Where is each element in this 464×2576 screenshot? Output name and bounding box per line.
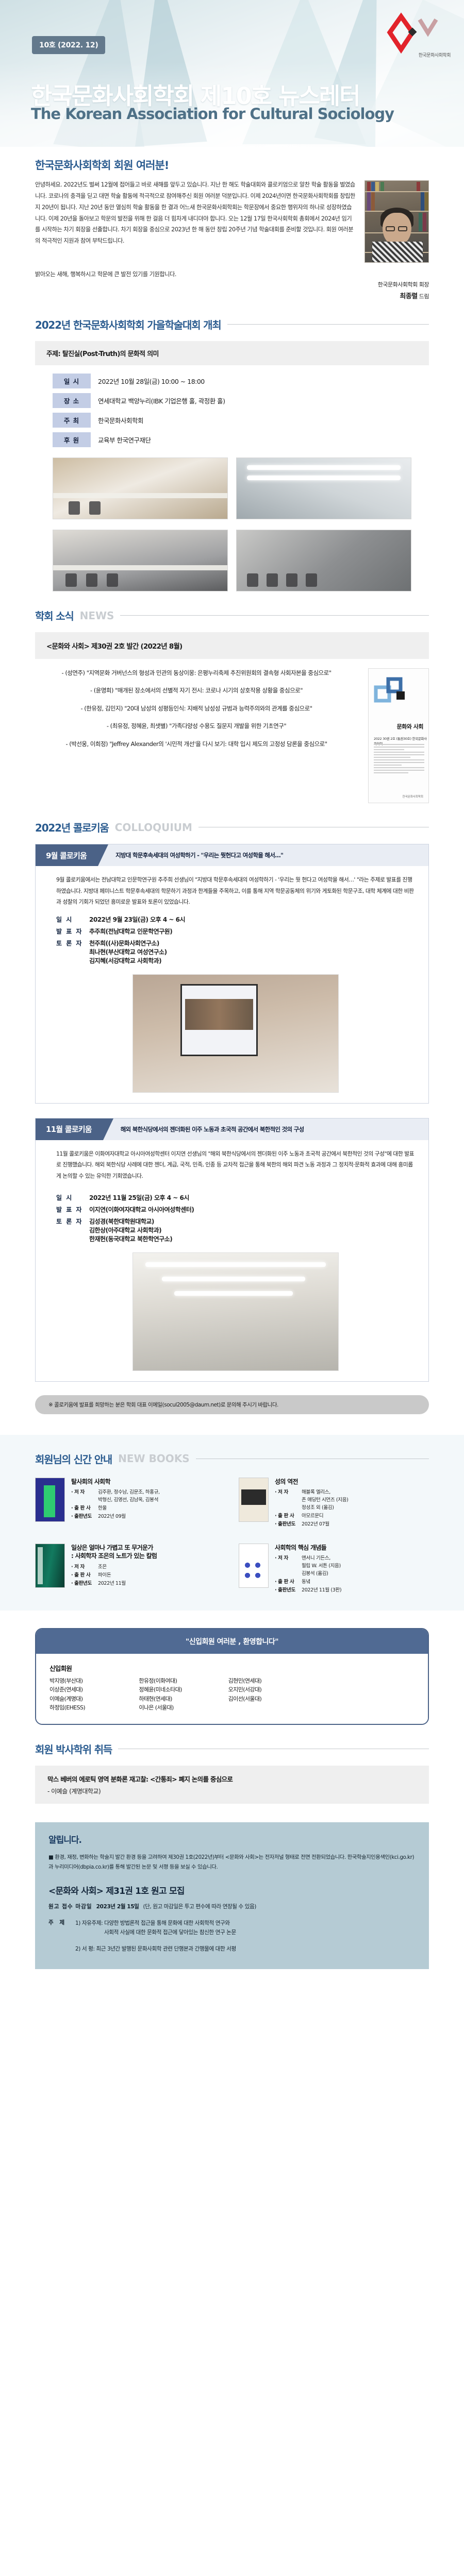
- book-publisher-label: · 출 판 사: [71, 1505, 98, 1513]
- book-publisher-row: · 출 판 사 파이돈: [71, 1572, 225, 1580]
- book-publisher-value: 한울: [98, 1505, 107, 1513]
- detail-value: 연세대학교 백양누리(IBK 기업은행 홀, 곽정환 홀): [98, 396, 225, 405]
- colloquium-photo: [132, 974, 339, 1093]
- news-heading: 학회 소식 NEWS: [35, 608, 429, 623]
- detail-value: 한국문화사회학회: [98, 415, 143, 425]
- list-item: 박지영(부산대): [49, 1677, 139, 1686]
- colloquium-presenter-key: 발 표 자: [56, 1205, 89, 1214]
- colloquium-heading-ko: 2022년 콜로키움: [35, 820, 109, 835]
- detail-row: 장 소 연세대학교 백양누리(IBK 기업은행 홀, 곽정환 홀): [53, 393, 429, 408]
- books-heading-ko: 회원님의 신간 안내: [35, 1451, 112, 1466]
- phd-entry: 막스 베버의 에로틱 영역 분화론 재고찰: <간통죄> 폐지 논의를 중심으로…: [35, 1766, 429, 1804]
- book-publisher-label: · 출 판 사: [71, 1572, 98, 1580]
- list-item: 김현민(연세대): [228, 1677, 318, 1686]
- list-item: 이나은 (서울대): [139, 1704, 228, 1713]
- colloquium-discussant-list: 김성경(북한대학원대학교) 김한상(아주대학교 사회학과) 한재헌(동국대학교 …: [89, 1217, 172, 1243]
- list-item: 오지민(서강대): [228, 1686, 318, 1694]
- book-publisher-row: · 출 판 사 동녘: [275, 1579, 429, 1586]
- list-item: - (윤명희) "매개된 장소에서의 선별적 자기 전시: 코로나 시기의 상호…: [35, 686, 358, 695]
- issue-badge: 10호 (2022. 12): [32, 36, 105, 54]
- news-heading-en: NEWS: [80, 609, 114, 622]
- author-line: 앤서니 기든스,: [302, 1555, 341, 1563]
- heading-rule: [227, 324, 429, 325]
- book-author-row: · 저 자 김주환, 정수남, 김문조, 하홍규, 박형신, 김영선, 김남옥,…: [71, 1489, 225, 1504]
- signature-name: 최종렬 드림: [35, 291, 429, 300]
- detail-row: 일 시 2022년 10월 28일(금) 10:00 ~ 18:00: [53, 374, 429, 388]
- colloquium-heading-en: COLLOQUIUM: [115, 821, 192, 834]
- book-cover: [35, 1544, 65, 1588]
- list-item: 김이선(서울대): [228, 1695, 318, 1704]
- book-year-row: · 출판년도 2022년 07월: [275, 1521, 429, 1529]
- book-year-value: 2022년 07월: [302, 1521, 329, 1529]
- association-logo-icon: [374, 9, 452, 56]
- book-list: 탈사회의 사회학 · 저 자 김주환, 정수남, 김문조, 하홍규, 박형신, …: [35, 1476, 429, 1595]
- phd-author: - 이예슬 (계명대학교): [47, 1787, 417, 1795]
- discussant: 김한상(아주대학교 사회학과): [89, 1226, 172, 1234]
- book-title-main: 일상은 얼마나 가볍고 또 무거운가: [71, 1544, 153, 1551]
- colloquium-discussant-key: 토 론 자: [56, 939, 89, 965]
- book-year-label: · 출판년도: [275, 1521, 302, 1529]
- cfp-topic-key: 주 제: [48, 1919, 75, 1937]
- news-heading-ko: 학회 소식: [35, 608, 74, 623]
- book-author-value: 해블록 엘리스, 존 애딩턴 시먼즈 (지음) 정성조 외 (옮김): [302, 1489, 348, 1512]
- book-author-row: · 저 자 조은: [71, 1564, 225, 1571]
- conference-heading: 2022년 한국문화사회학회 가을학술대회 개최: [35, 317, 429, 332]
- colloquium-discussant-row: 토 론 자 김성경(북한대학원대학교) 김한상(아주대학교 사회학과) 한재헌(…: [56, 1217, 415, 1243]
- colloquium-topic: 해외 북한식당에서의 젠더화된 이주 노동과 초국적 공간에서 북한적인 것의 …: [103, 1118, 428, 1140]
- conference-details: 일 시 2022년 10월 28일(금) 10:00 ~ 18:00 장 소 연…: [53, 374, 429, 447]
- discussant: 김지혜(서강대학교 사회학과): [89, 956, 167, 965]
- heading-rule: [118, 1749, 429, 1749]
- colloquium-discussant-row: 토 론 자 천주희((사)문화사회연구소) 최나현(부산대학교 여성연구소) 김…: [56, 939, 415, 965]
- announcement-paragraph: ■ 환경, 재정, 변화하는 학술지 발간 환경 등을 고려하여 제30권 1호…: [48, 1853, 416, 1873]
- colloquium-presenter-value: 이지연(이화여자대학교 아시아여성학센터): [89, 1205, 194, 1214]
- conference-photo: [53, 457, 228, 519]
- conference-photo: [53, 530, 228, 591]
- heading-rule: [196, 1459, 429, 1459]
- phd-section: 회원 박사학위 취득 막스 베버의 에로틱 영역 분화론 재고찰: <간통죄> …: [0, 1741, 464, 1804]
- page-subtitle: The Korean Association for Cultural Soci…: [31, 105, 394, 123]
- book-cover: [239, 1478, 269, 1522]
- journal-mark-icon: [374, 676, 411, 713]
- colloquium-section: 2022년 콜로키움 COLLOQUIUM 9월 콜로키움 지방대 학문후속세대…: [0, 820, 464, 1414]
- book-year-row: · 출판년도 2022년 09월: [71, 1513, 225, 1521]
- colloquium-topic: 지방대 학문후속세대의 여성학하기 - "우리는 뭣헌다고 여성학을 해서…": [98, 844, 428, 866]
- book-author-label: · 저 자: [275, 1555, 302, 1578]
- discussant: 최나현(부산대학교 여성연구소): [89, 947, 167, 956]
- new-members-grid: 박지영(부산대) 한유정(이화여대) 김현민(연세대) 이상준(연세대) 정혜윤…: [49, 1677, 318, 1713]
- author-line: 필립 W. 서튼 (지음): [302, 1563, 341, 1570]
- conference-heading-ko: 2022년 한국문화사회학회 가을학술대회 개최: [35, 317, 221, 332]
- journal-cover-title: 문화와 사회: [397, 722, 423, 731]
- journal-issue-band: <문화와 사회> 제30권 2호 발간 (2022년 8월): [35, 632, 429, 659]
- cfp-topic-value: 1) 자유주제: 다양한 방법론적 접근을 통해 문화에 대한 사회학적 연구와…: [75, 1919, 416, 1937]
- phd-heading: 회원 박사학위 취득: [35, 1741, 429, 1756]
- colloquium-presenter-row: 발 표 자 이지연(이화여자대학교 아시아여성학센터): [56, 1205, 415, 1214]
- conference-photos-row-1: [53, 457, 411, 519]
- book-year-value: 2022년 09월: [98, 1513, 126, 1521]
- colloquium-date-row: 일 시 2022년 9월 23일(금) 오후 4 ~ 6시: [56, 915, 415, 924]
- journal-article-list: - (성연주) "지역문화 거버넌스의 형성과 민관의 동상이몽: 은평누리축제…: [35, 668, 358, 803]
- list-item: - (성연주) "지역문화 거버넌스의 형성과 민관의 동상이몽: 은평누리축제…: [35, 668, 358, 677]
- list-item: 하태현(연세대): [139, 1695, 228, 1704]
- author-line: 김봉석 (옮김): [302, 1570, 341, 1578]
- greeting-section: 한국문화사회학회 회원 여러분! 안녕하세요. 2022년도 벌써 12월에 접…: [0, 157, 464, 300]
- cfp-topic-spacer: [48, 1944, 75, 1954]
- book-cover: [35, 1478, 65, 1522]
- list-item: 이상준(연세대): [49, 1686, 139, 1694]
- book-author-row: · 저 자 앤서니 기든스, 필립 W. 서튼 (지음) 김봉석 (옮김): [275, 1555, 429, 1578]
- author-line: 박형신, 김영선, 김남옥, 김봉석: [98, 1497, 160, 1504]
- list-item: - (박선웅, 이희정) "Jeffrey Alexander의 '시민적 개선…: [35, 739, 358, 749]
- signature-role: 한국문화사회학회 회장: [35, 280, 429, 289]
- detail-value: 교육부 한국연구재단: [98, 435, 151, 445]
- book-author-value: 김주환, 정수남, 김문조, 하홍규, 박형신, 김영선, 김남옥, 김봉석: [98, 1489, 160, 1504]
- book-title: 사회학의 핵심 개념들: [275, 1544, 429, 1552]
- book-year-row: · 출판년도 2022년 11월 (3판): [275, 1587, 429, 1595]
- book-subtitle: : 사회학자 조은의 노트가 있는 칼럼: [71, 1552, 225, 1561]
- detail-key: 장 소: [53, 393, 91, 408]
- colloquium-presenter-key: 발 표 자: [56, 927, 89, 936]
- discussant: 김성경(북한대학원대학교): [89, 1217, 172, 1226]
- detail-row: 후 원 교육부 한국연구재단: [53, 432, 429, 447]
- book-year-row: · 출판년도 2022년 11월: [71, 1580, 225, 1588]
- cfp-topic-1: 1) 자유주제: 다양한 방법론적 접근을 통해 문화에 대한 사회학적 연구와: [75, 1920, 230, 1926]
- book-year-label: · 출판년도: [71, 1513, 98, 1521]
- detail-key: 일 시: [53, 374, 91, 388]
- detail-key: 주 최: [53, 413, 91, 428]
- colloquium-card-september: 9월 콜로키움 지방대 학문후속세대의 여성학하기 - "우리는 뭣헌다고 여성…: [35, 844, 429, 1104]
- detail-row: 주 최 한국문화사회학회: [53, 413, 429, 428]
- list-item: 정혜윤(미네소타대): [139, 1686, 228, 1694]
- cfp-deadline-value: 2023년 2월 15일: [96, 1903, 139, 1910]
- book-author-label: · 저 자: [275, 1489, 302, 1512]
- new-members-card: "신입회원 여러분 , 환영합니다" 신입회원 박지영(부산대) 한유정(이화여…: [35, 1628, 429, 1725]
- book-year-label: · 출판년도: [71, 1580, 98, 1588]
- colloquium-date-key: 일 시: [56, 915, 89, 924]
- book-author-value: 앤서니 기든스, 필립 W. 서튼 (지음) 김봉석 (옮김): [302, 1555, 341, 1578]
- colloquium-month-tag: 9월 콜로키움: [36, 844, 98, 866]
- journal-cover-footer: 한국문화사회학회: [403, 794, 423, 799]
- phd-heading-ko: 회원 박사학위 취득: [35, 1741, 112, 1756]
- conference-subject: 주제: 탈진실(Post-Truth)의 문화적 의미: [35, 341, 429, 365]
- cfp-deadline-row: 원고 접수 마감일 2023년 2월 15일 (단, 원고 마감일은 투고 편수…: [48, 1903, 416, 1910]
- list-item: 한유정(이화여대): [139, 1677, 228, 1686]
- list-item: - (한유정, 김민지) "20대 남성의 성평등인식: 지배적 남성성 규범과…: [35, 704, 358, 713]
- colloquium-month-tag: 11월 콜로키움: [36, 1118, 103, 1140]
- book-title: 일상은 얼마나 가볍고 또 무거운가 : 사회학자 조은의 노트가 있는 칼럼: [71, 1544, 225, 1561]
- book-publisher-row: · 출 판 사 한울: [71, 1505, 225, 1513]
- cfp-title: <문화와 사회> 제31권 1호 원고 모집: [48, 1884, 416, 1896]
- new-books-section: 회원님의 신간 안내 NEW BOOKS 탈사회의 사회학 · 저 자 김주환,…: [0, 1435, 464, 1611]
- book-item: 탈사회의 사회학 · 저 자 김주환, 정수남, 김문조, 하홍규, 박형신, …: [35, 1478, 225, 1529]
- conference-photos-row-2: [53, 530, 411, 591]
- list-item: 하정임(EHESS): [49, 1704, 139, 1713]
- detail-key: 후 원: [53, 432, 91, 447]
- president-photo: [364, 180, 429, 263]
- colloquium-heading: 2022년 콜로키움 COLLOQUIUM: [35, 820, 429, 835]
- book-publisher-label: · 출 판 사: [275, 1579, 302, 1586]
- phd-thesis-title: 막스 베버의 에로틱 영역 분화론 재고찰: <간통죄> 폐지 논의를 중심으로: [47, 1774, 417, 1784]
- conference-photo: [236, 530, 411, 591]
- journal-cover-image: 문화와 사회 2022 30권 2호 (통권30호) 한국문화사회학회 한국문화…: [368, 668, 429, 803]
- list-item: - (최유정, 정혜윤, 최샛별) "가족다양성 수용도 질문지 개발을 위한 …: [35, 721, 358, 731]
- book-item: 사회학의 핵심 개념들 · 저 자 앤서니 기든스, 필립 W. 서튼 (지음)…: [239, 1544, 429, 1595]
- discussant: 천주희((사)문화사회연구소): [89, 939, 167, 947]
- book-publisher-value: 동녘: [302, 1579, 310, 1586]
- colloquium-description: 11월 콜로키움은 이화여자대학교 아시아여성학센터 이지연 선생님의 "해외 …: [56, 1148, 415, 1182]
- heading-rule: [120, 615, 429, 616]
- book-author-row: · 저 자 해블록 엘리스, 존 애딩턴 시먼즈 (지음) 정성조 외 (옮김): [275, 1489, 429, 1512]
- list-item: [228, 1704, 318, 1713]
- book-year-label: · 출판년도: [275, 1587, 302, 1595]
- book-publisher-value: 아모르문디: [302, 1513, 323, 1520]
- newsletter-header: 10호 (2022. 12) 한국문화사회학회 제10호 뉴스레터 The Ko…: [0, 0, 464, 147]
- cfp-topic-row: 주 제 1) 자유주제: 다양한 방법론적 접근을 통해 문화에 대한 사회학적…: [48, 1919, 416, 1937]
- colloquium-date-row: 일 시 2022년 11월 25일(금) 오후 4 ~ 6시: [56, 1193, 415, 1202]
- heading-rule: [198, 827, 429, 827]
- book-item: 일상은 얼마나 가볍고 또 무거운가 : 사회학자 조은의 노트가 있는 칼럼 …: [35, 1544, 225, 1595]
- colloquium-photo: [132, 1252, 339, 1371]
- colloquium-date-value: 2022년 9월 23일(금) 오후 4 ~ 6시: [89, 915, 185, 924]
- cfp-topic-2: 2) 서 평: 최근 3년간 발행된 문화사회학 관련 단행본과 간행물에 대한…: [75, 1944, 416, 1954]
- news-section: 학회 소식 NEWS <문화와 사회> 제30권 2호 발간 (2022년 8월…: [0, 608, 464, 803]
- books-heading: 회원님의 신간 안내 NEW BOOKS: [35, 1451, 429, 1466]
- cfp-topic-1-cont: 사회적 사실에 대한 문화적 접근에 닿아있는 참신한 연구 논문: [104, 1928, 416, 1937]
- new-members-header: "신입회원 여러분 , 환영합니다": [36, 1629, 428, 1654]
- discussant: 한재헌(동국대학교 북한학연구소): [89, 1234, 172, 1243]
- book-cover: [239, 1544, 269, 1588]
- signature-name-text: 최종렬: [400, 293, 417, 300]
- books-heading-en: NEW BOOKS: [118, 1452, 190, 1465]
- colloquium-presenter-row: 발 표 자 추주희(전남대학교 인문학연구원): [56, 927, 415, 936]
- book-author-value: 조은: [98, 1564, 107, 1571]
- colloquium-discussant-list: 천주희((사)문화사회연구소) 최나현(부산대학교 여성연구소) 김지혜(서강대…: [89, 939, 167, 965]
- colloquium-card-november: 11월 콜로키움 해외 북한식당에서의 젠더화된 이주 노동과 초국적 공간에서…: [35, 1118, 429, 1382]
- logo-caption: 한국문화사회학회: [419, 52, 451, 58]
- colloquium-discussant-key: 토 론 자: [56, 1217, 89, 1243]
- author-line: 존 애딩턴 시먼즈 (지음): [302, 1497, 348, 1504]
- book-author-label: · 저 자: [71, 1564, 98, 1571]
- author-line: 김주환, 정수남, 김문조, 하홍규,: [98, 1489, 160, 1497]
- colloquium-notice: ※ 콜로키움에 발표를 희망하는 분은 학회 대표 이메일(socul2005@…: [35, 1395, 429, 1414]
- signature-suffix: 드림: [418, 293, 429, 300]
- book-item: 성의 역전 · 저 자 해블록 엘리스, 존 애딩턴 시먼즈 (지음) 정성조 …: [239, 1478, 429, 1529]
- conference-section: 2022년 한국문화사회학회 가을학술대회 개최 주제: 탈진실(Post-Tr…: [0, 317, 464, 591]
- book-publisher-label: · 출 판 사: [275, 1513, 302, 1520]
- colloquium-description: 9월 콜로키움에서는 전남대학교 인문학연구원 추주희 선생님이 "지방대 학문…: [56, 874, 415, 908]
- list-item: 이예슬(계명대): [49, 1695, 139, 1704]
- colloquium-date-value: 2022년 11월 25일(금) 오후 4 ~ 6시: [89, 1193, 189, 1202]
- announcement-section: 알립니다. ■ 환경, 재정, 변화하는 학술지 발간 환경 등을 고려하여 제…: [35, 1822, 429, 1970]
- greeting-closing: 밝아오는 새해, 행복하시고 학문에 큰 발전 있기를 기원합니다.: [35, 270, 429, 278]
- newsletter-page: 10호 (2022. 12) 한국문화사회학회 제10호 뉴스레터 The Ko…: [0, 0, 464, 1990]
- author-line: 정성조 외 (옮김): [302, 1504, 348, 1512]
- conference-photo: [236, 457, 411, 519]
- book-publisher-row: · 출 판 사 아모르문디: [275, 1513, 429, 1520]
- book-publisher-value: 파이돈: [98, 1572, 111, 1580]
- new-members-label: 신입회원: [49, 1663, 415, 1673]
- announcement-title: 알립니다.: [48, 1833, 416, 1845]
- book-title: 성의 역전: [275, 1478, 429, 1486]
- cfp-topic-row-2: 2) 서 평: 최근 3년간 발행된 문화사회학 관련 단행본과 간행물에 대한…: [48, 1944, 416, 1954]
- book-year-value: 2022년 11월 (3판): [302, 1587, 341, 1595]
- colloquium-date-key: 일 시: [56, 1193, 89, 1202]
- book-year-value: 2022년 11월: [98, 1580, 126, 1588]
- greeting-title: 한국문화사회학회 회원 여러분!: [35, 157, 429, 173]
- colloquium-presenter-value: 추주희(전남대학교 인문학연구원): [89, 927, 172, 936]
- journal-cover-lines: [374, 744, 424, 775]
- author-line: 해블록 엘리스,: [302, 1489, 348, 1497]
- cfp-deadline-key: 원고 접수 마감일: [48, 1903, 92, 1910]
- detail-value: 2022년 10월 28일(금) 10:00 ~ 18:00: [98, 376, 205, 386]
- book-title: 탈사회의 사회학: [71, 1478, 225, 1486]
- book-author-label: · 저 자: [71, 1489, 98, 1504]
- greeting-body: 안녕하세요. 2022년도 벌써 12월에 접어들고 바로 새해를 앞두고 있습…: [35, 179, 355, 247]
- cfp-deadline-note: (단, 원고 마감일은 투고 편수에 따라 연장될 수 있음): [143, 1903, 256, 1910]
